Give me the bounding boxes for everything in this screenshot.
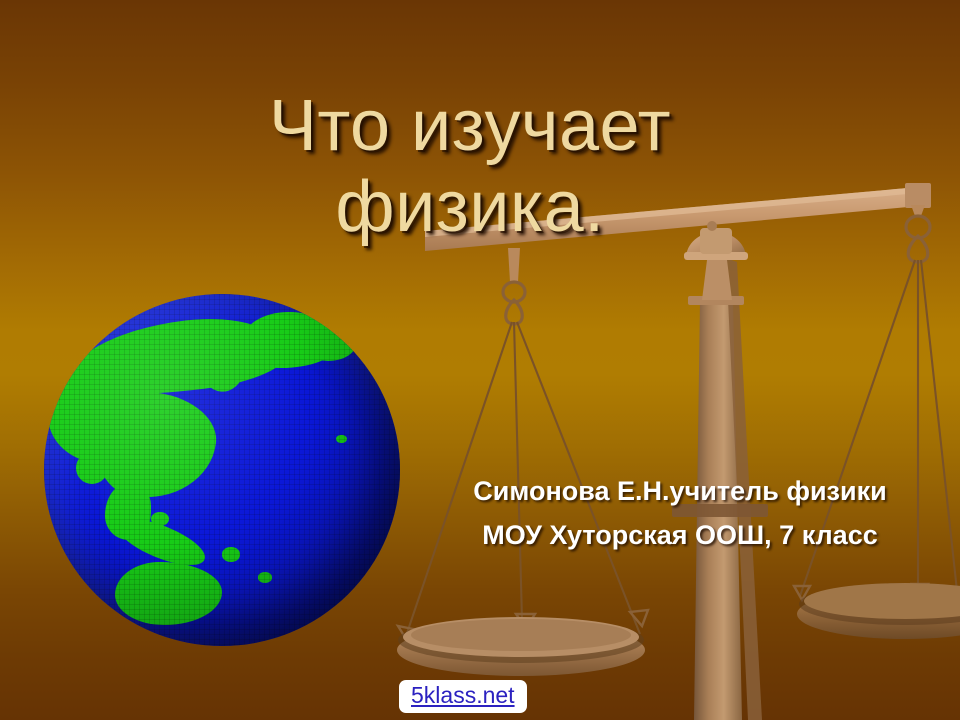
scale-left-pan [397,617,645,676]
scale-left-hanger [398,248,648,642]
page-title: Что изучает физика. [120,86,820,247]
watermark-link[interactable]: 5klass.net [399,680,527,713]
title-line-2: физика. [120,167,820,248]
scale-right-pan [797,583,960,639]
title-line-1: Что изучает [120,86,820,167]
author-block: Симонова Е.Н.учитель физики МОУ Хуторска… [420,470,940,557]
presentation-slide: Что изучает физика. Симонова Е.Н.учитель… [0,0,960,720]
author-name-line: Симонова Е.Н.учитель физики [420,470,940,514]
school-class-line: МОУ Хуторская ООШ, 7 класс [420,514,940,558]
